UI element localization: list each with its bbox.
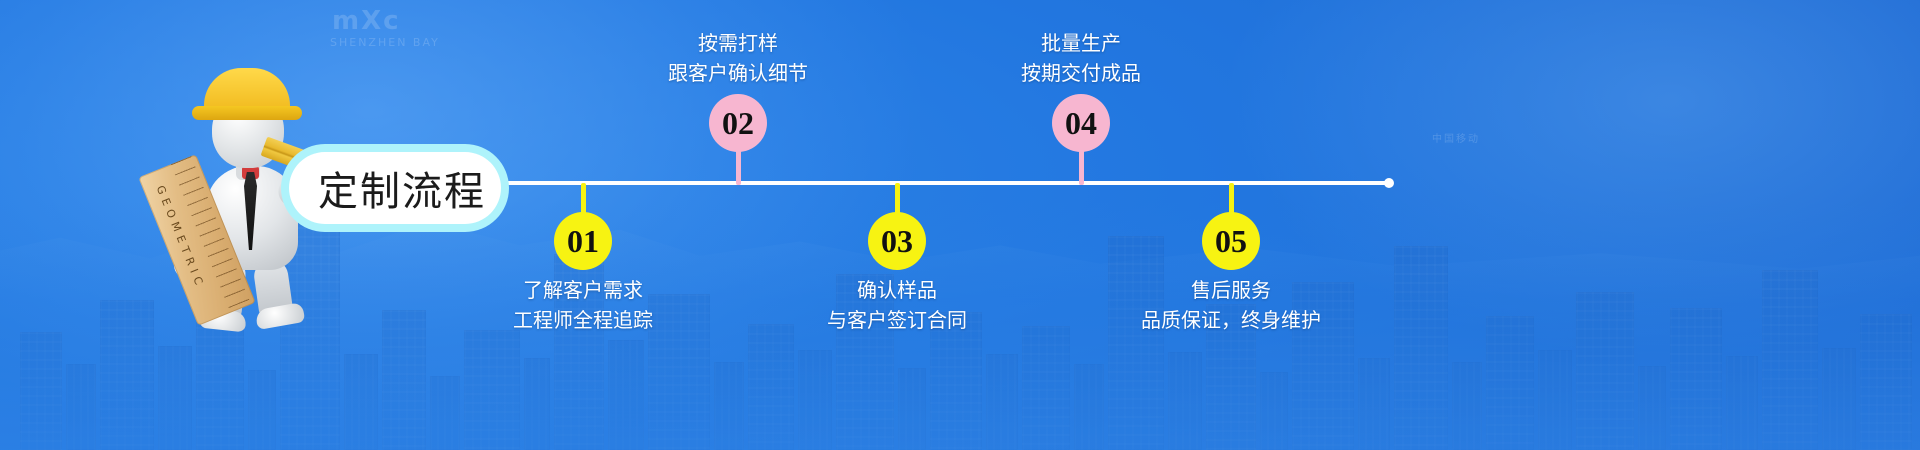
background-logo-mxc: mXc (332, 6, 401, 36)
custom-process-banner: mXc SHENZHEN BAY 中国移动 GEOMETRIC (0, 0, 1920, 450)
step-03-caption: 确认样品 与客户签订合同 (727, 275, 1067, 335)
timeline-end-dot (1384, 178, 1394, 188)
step-03-caption-line2: 与客户签订合同 (727, 305, 1067, 335)
page-title: 定制流程 (304, 159, 486, 217)
step-01-caption-line2: 工程师全程追踪 (413, 305, 753, 335)
step-03-caption-line1: 确认样品 (727, 275, 1067, 305)
step-01-caption-line1: 了解客户需求 (413, 275, 753, 305)
ruler-label: GEOMETRIC (154, 184, 208, 292)
step-05-badge[interactable]: 05 (1202, 212, 1260, 270)
step-04-badge[interactable]: 04 (1052, 94, 1110, 152)
step-01-badge[interactable]: 01 (554, 212, 612, 270)
page-title-pill: 定制流程 (281, 144, 509, 232)
step-05-caption: 售后服务 品质保证，终身维护 (1061, 275, 1401, 335)
hard-hat-brim (192, 106, 302, 120)
step-03-badge[interactable]: 03 (868, 212, 926, 270)
step-02-caption-line1: 按需打样 (568, 28, 908, 58)
step-02-badge[interactable]: 02 (709, 94, 767, 152)
step-05-caption-line2: 品质保证，终身维护 (1061, 305, 1401, 335)
step-04-caption-line1: 批量生产 (911, 28, 1251, 58)
step-05-caption-line1: 售后服务 (1061, 275, 1401, 305)
step-04-caption: 批量生产 按期交付成品 (911, 28, 1251, 88)
background-logo-china-mobile: 中国移动 (1432, 130, 1480, 145)
page-title-pill-inner: 定制流程 (289, 152, 501, 224)
step-02-caption-line2: 跟客户确认细节 (568, 58, 908, 88)
background-logo-shenzhen-bay: SHENZHEN BAY (330, 36, 440, 49)
step-04-caption-line2: 按期交付成品 (911, 58, 1251, 88)
step-01-caption: 了解客户需求 工程师全程追踪 (413, 275, 753, 335)
timeline-track (470, 181, 1390, 185)
step-02-caption: 按需打样 跟客户确认细节 (568, 28, 908, 88)
